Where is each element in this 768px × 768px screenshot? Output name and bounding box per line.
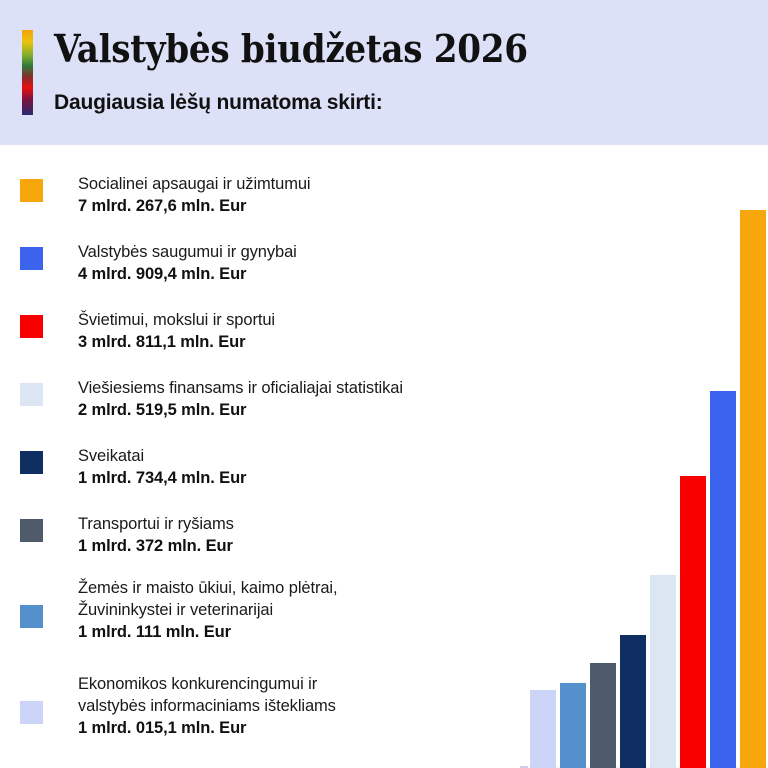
legend-item-value: 1 mlrd. 372 mln. Eur [78, 535, 558, 558]
legend-item-label: Transportui ir ryšiams [78, 513, 558, 535]
legend-item-value: 7 mlrd. 267,6 mln. Eur [78, 195, 558, 218]
legend-item-value: 1 mlrd. 734,4 mln. Eur [78, 467, 558, 490]
legend-item-label: Socialinei apsaugai ir užimtumui [78, 173, 558, 195]
gradient-bar-icon [22, 30, 33, 115]
page-subtitle: Daugiausia lėšų numatoma skirti: [54, 91, 383, 115]
legend-item-label: Sveikatai [78, 445, 558, 467]
chart-plot-area [520, 145, 768, 768]
legend-item-value: 2 mlrd. 519,5 mln. Eur [78, 399, 558, 422]
legend-item-label: Žemės ir maisto ūkiui, kaimo plėtrai, [78, 577, 558, 599]
legend-swatch-icon [20, 179, 43, 202]
legend-swatch-icon [20, 519, 43, 542]
legend-swatch-icon [20, 451, 43, 474]
legend-item-value: 1 mlrd. 015,1 mln. Eur [78, 717, 558, 740]
legend-item-label: Švietimui, mokslui ir sportui [78, 309, 558, 331]
legend-item-label: Viešiesiems finansams ir oficialiajai st… [78, 377, 558, 399]
legend-swatch-icon [20, 247, 43, 270]
header-banner: Valstybės biudžetas 2026 Daugiausia lėšų… [0, 0, 768, 145]
legend-swatch-icon [20, 383, 43, 406]
bar-chart [520, 145, 768, 768]
legend-item-label: Ekonomikos konkurencingumui ir [78, 673, 558, 695]
legend-item-label-line2: Žuvininkystei ir veterinarijai [78, 599, 558, 621]
legend-text: Socialinei apsaugai ir užimtumui 7 mlrd.… [78, 173, 558, 218]
chart-bar [710, 391, 736, 768]
chart-bar [560, 683, 586, 768]
infographic-canvas: Valstybės biudžetas 2026 Daugiausia lėšų… [0, 0, 768, 768]
legend-text: Ekonomikos konkurencingumui ir valstybės… [78, 673, 558, 740]
legend: Socialinei apsaugai ir užimtumui 7 mlrd.… [0, 145, 560, 768]
legend-text: Žemės ir maisto ūkiui, kaimo plėtrai, Žu… [78, 577, 558, 644]
chart-bar [530, 690, 556, 768]
legend-item-label: Valstybės saugumui ir gynybai [78, 241, 558, 263]
legend-item-value: 4 mlrd. 909,4 mln. Eur [78, 263, 558, 286]
page-title: Valstybės biudžetas 2026 [54, 26, 528, 71]
legend-item-value: 1 mlrd. 111 mln. Eur [78, 621, 558, 644]
chart-bar [650, 575, 676, 768]
legend-text: Transportui ir ryšiams 1 mlrd. 372 mln. … [78, 513, 558, 558]
legend-text: Sveikatai 1 mlrd. 734,4 mln. Eur [78, 445, 558, 490]
legend-text: Valstybės saugumui ir gynybai 4 mlrd. 90… [78, 241, 558, 286]
chart-bar [680, 476, 706, 768]
legend-swatch-icon [20, 605, 43, 628]
chart-bar [590, 663, 616, 768]
legend-swatch-icon [20, 315, 43, 338]
chart-bar [740, 210, 766, 768]
chart-bar [620, 635, 646, 768]
legend-swatch-icon [20, 701, 43, 724]
legend-text: Švietimui, mokslui ir sportui 3 mlrd. 81… [78, 309, 558, 354]
legend-item-value: 3 mlrd. 811,1 mln. Eur [78, 331, 558, 354]
legend-item-label-line2: valstybės informaciniams ištekliams [78, 695, 558, 717]
legend-text: Viešiesiems finansams ir oficialiajai st… [78, 377, 558, 422]
